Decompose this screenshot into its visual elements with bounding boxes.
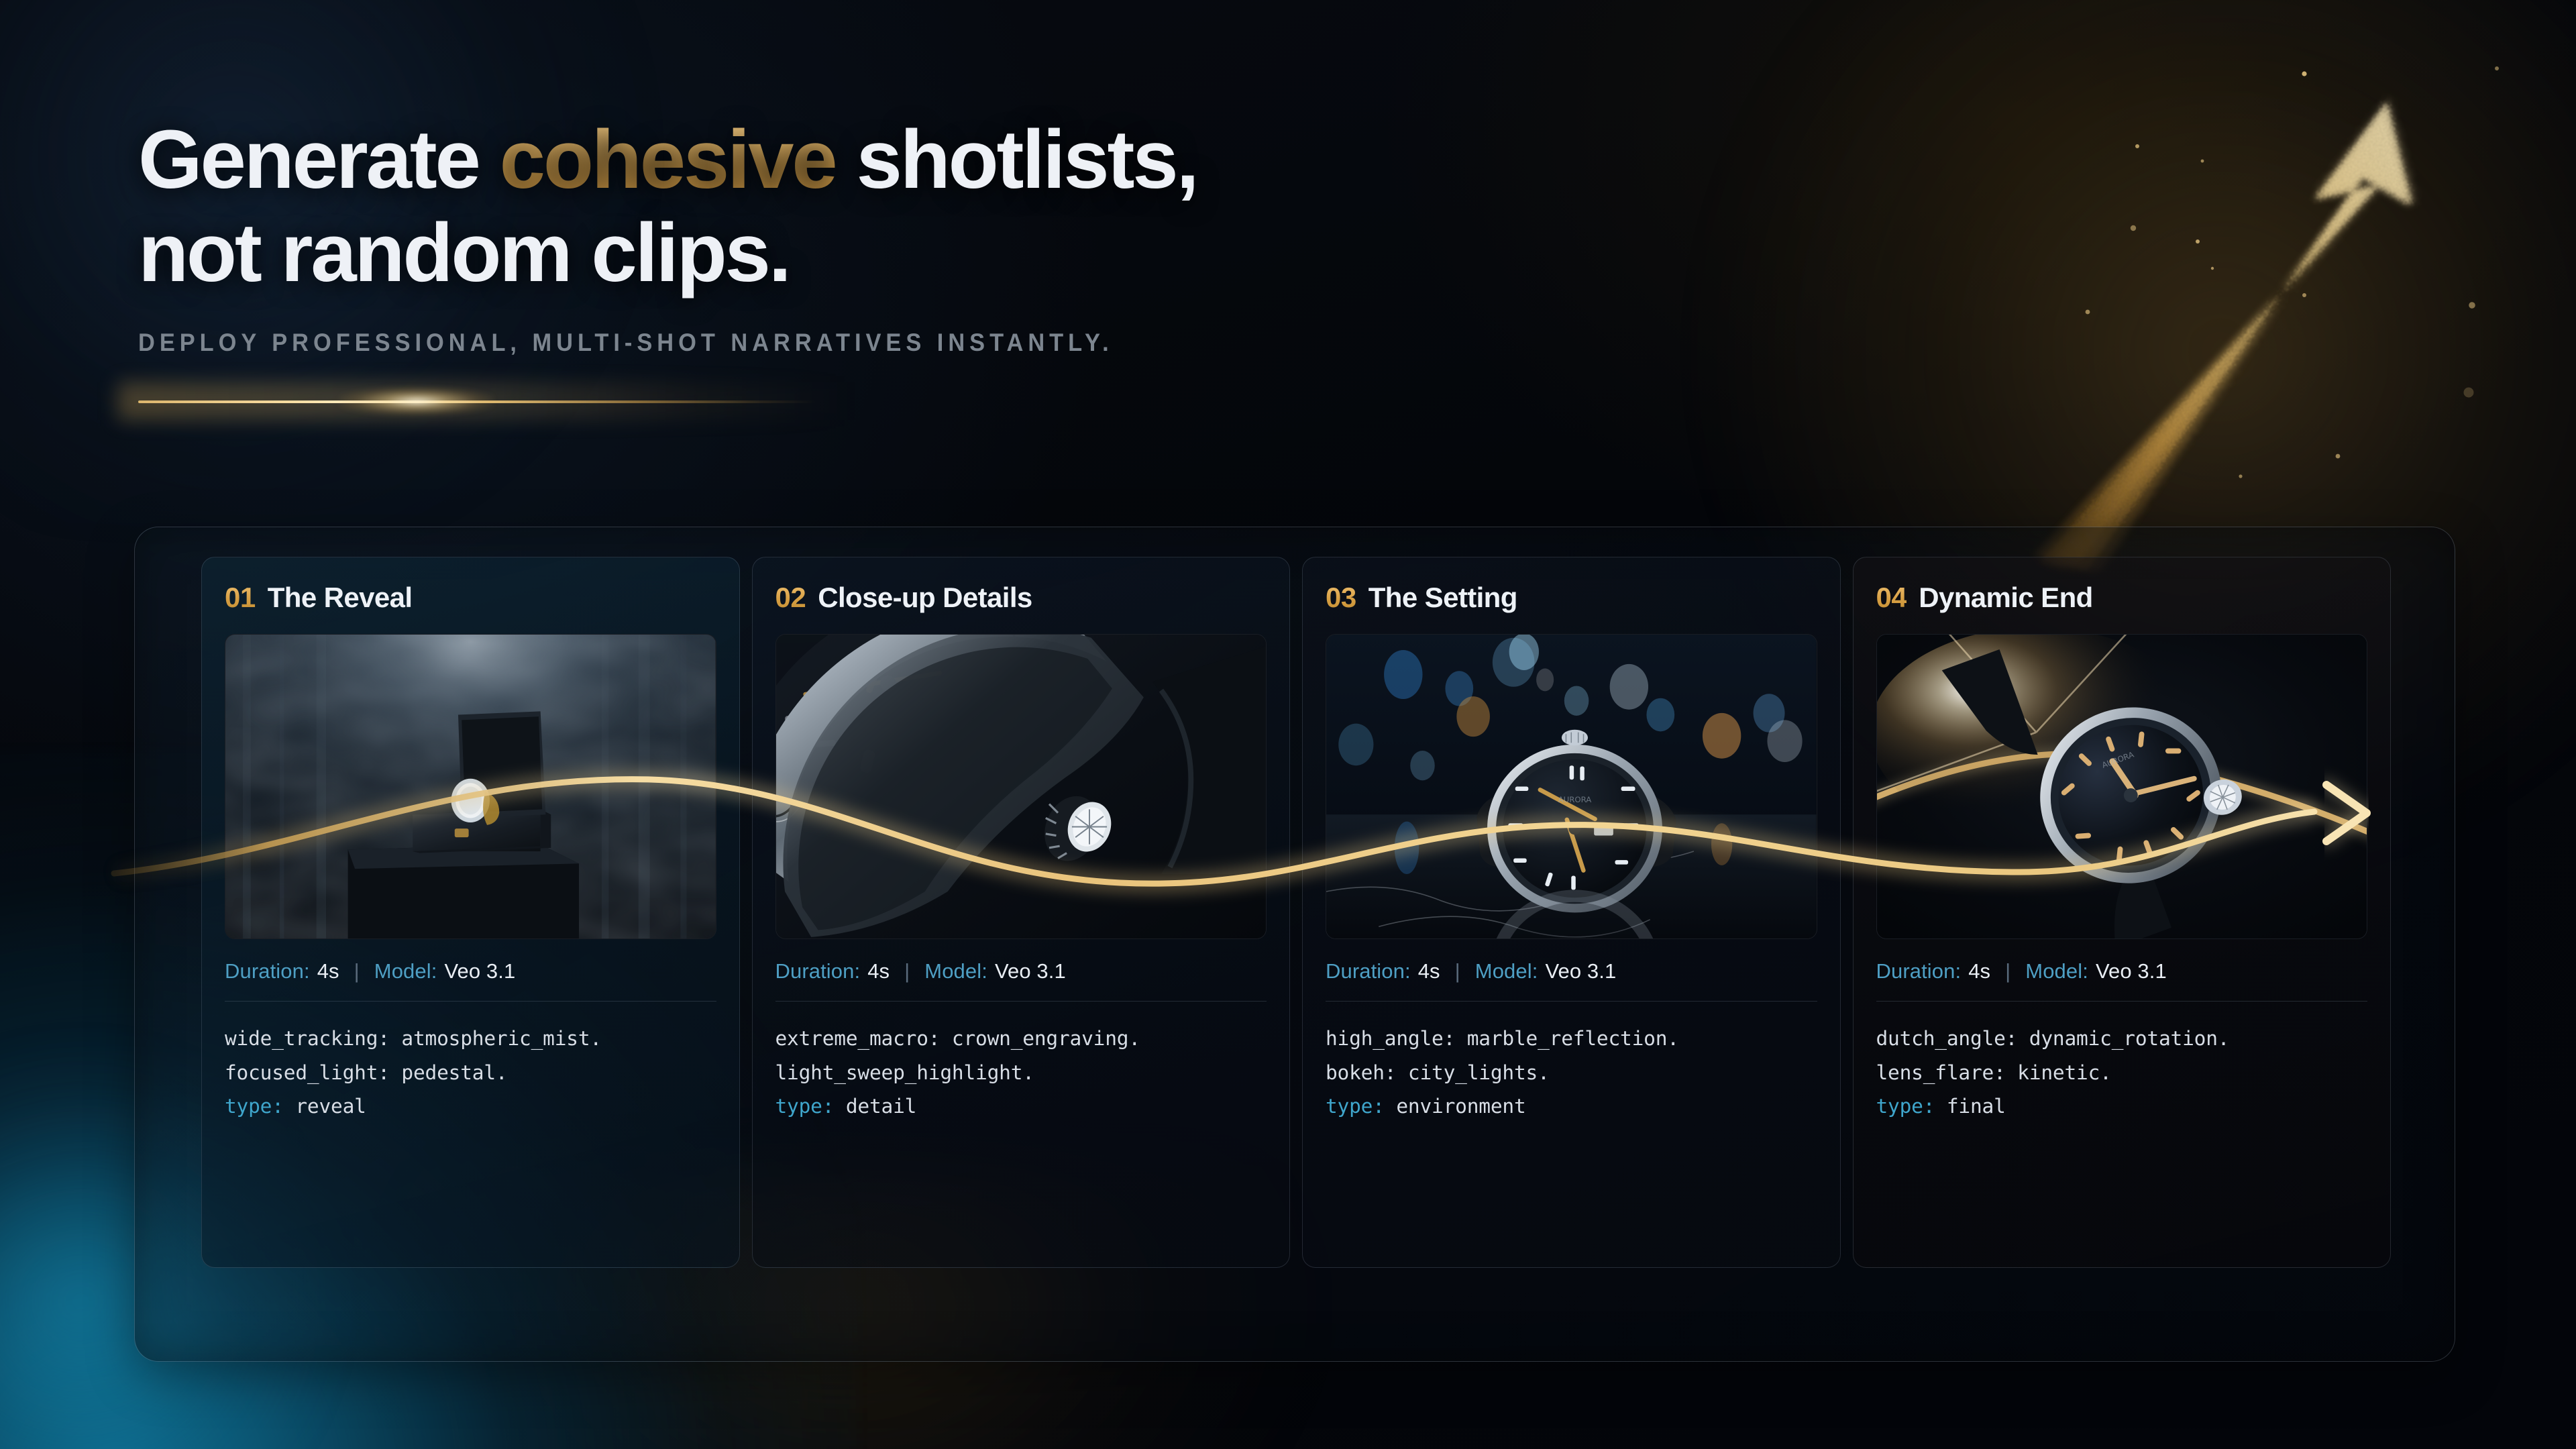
shot-meta-row: Duration: 4s | Model: Veo 3.1: [1876, 959, 2368, 1002]
headline-part-2: shotlists,: [836, 114, 1197, 206]
duration-value: 4s: [1968, 959, 1990, 983]
shot-card-header: 03 The Setting: [1326, 582, 1817, 619]
prompt-key: high_angle:: [1326, 1027, 1455, 1050]
prompt-line: focused_light: pedestal.: [225, 1056, 716, 1090]
shot-meta-row: Duration: 4s | Model: Veo 3.1: [775, 959, 1267, 1002]
model-value: Veo 3.1: [2096, 959, 2167, 983]
model-label: Model:: [1475, 959, 1538, 983]
duration-label: Duration:: [775, 959, 861, 983]
prompt-line: bokeh: city_lights.: [1326, 1056, 1817, 1090]
prompt-line: wide_tracking: atmospheric_mist.: [225, 1022, 716, 1056]
duration-label: Duration:: [225, 959, 310, 983]
prompt-type-line: type: final: [1876, 1089, 2368, 1124]
shot-prompt-code: high_angle: marble_reflection. bokeh: ci…: [1326, 1022, 1817, 1124]
shot-card-row: 01 The Reveal: [201, 557, 2391, 1268]
shot-card-04[interactable]: 04 Dynamic End: [1853, 557, 2392, 1268]
prompt-type-line: type: environment: [1326, 1089, 1817, 1124]
shot-number: 04: [1876, 582, 1907, 614]
duration-value: 4s: [1418, 959, 1440, 983]
shot-card-header: 04 Dynamic End: [1876, 582, 2368, 619]
shot-thumbnail-reveal[interactable]: [225, 634, 716, 939]
shot-meta-row: Duration: 4s | Model: Veo 3.1: [225, 959, 716, 1002]
shot-title: The Setting: [1368, 582, 1517, 614]
duration-label: Duration:: [1326, 959, 1411, 983]
prompt-value: dynamic_rotation.: [2017, 1027, 2229, 1050]
prompt-line: light_sweep_highlight.: [775, 1056, 1267, 1090]
prompt-line: extreme_macro: crown_engraving.: [775, 1022, 1267, 1056]
prompt-key: light_sweep_highlight.: [775, 1061, 1034, 1084]
meta-separator: |: [904, 959, 910, 983]
page-title: Generate cohesive shotlists, not random …: [138, 114, 1748, 301]
shot-number: 03: [1326, 582, 1356, 614]
shot-thumbnail-dynamic[interactable]: AURORA: [1876, 634, 2368, 939]
model-label: Model:: [924, 959, 987, 983]
prompt-value: atmospheric_mist.: [390, 1027, 602, 1050]
shot-card-01[interactable]: 01 The Reveal: [201, 557, 740, 1268]
prompt-value: pedestal.: [390, 1061, 508, 1084]
prompt-type-key: type:: [225, 1095, 284, 1118]
shot-thumbnail-setting[interactable]: AURORA: [1326, 634, 1817, 939]
shot-prompt-code: dutch_angle: dynamic_rotation. lens_flar…: [1876, 1022, 2368, 1124]
shot-card-03[interactable]: 03 The Setting: [1302, 557, 1841, 1268]
prompt-line: high_angle: marble_reflection.: [1326, 1022, 1817, 1056]
meta-separator: |: [2005, 959, 2010, 983]
prompt-type-key: type:: [1326, 1095, 1385, 1118]
model-value: Veo 3.1: [444, 959, 515, 983]
model-value: Veo 3.1: [1545, 959, 1616, 983]
prompt-key: extreme_macro:: [775, 1027, 941, 1050]
duration-value: 4s: [867, 959, 890, 983]
shot-number: 02: [775, 582, 806, 614]
shot-title: Dynamic End: [1919, 582, 2092, 614]
model-value: Veo 3.1: [995, 959, 1066, 983]
prompt-line: dutch_angle: dynamic_rotation.: [1876, 1022, 2368, 1056]
prompt-key: focused_light:: [225, 1061, 390, 1084]
headline-part-1: Generate: [138, 114, 500, 206]
duration-value: 4s: [317, 959, 339, 983]
divider-hotspot: [339, 387, 494, 415]
svg-text:AURORA: AURORA: [1558, 795, 1592, 804]
gold-divider: [138, 393, 816, 411]
page-subtitle: DEPLOY PROFESSIONAL, MULTI-SHOT NARRATIV…: [138, 329, 1635, 357]
shot-meta-row: Duration: 4s | Model: Veo 3.1: [1326, 959, 1817, 1002]
prompt-line: lens_flare: kinetic.: [1876, 1056, 2368, 1090]
shot-card-header: 01 The Reveal: [225, 582, 716, 619]
prompt-type-value: final: [1947, 1095, 2006, 1118]
prompt-type-key: type:: [1876, 1095, 1935, 1118]
prompt-type-key: type:: [775, 1095, 835, 1118]
shot-prompt-code: wide_tracking: atmospheric_mist. focused…: [225, 1022, 716, 1124]
shot-title: The Reveal: [268, 582, 413, 614]
prompt-value: kinetic.: [2006, 1061, 2112, 1084]
prompt-value: crown_engraving.: [940, 1027, 1140, 1050]
shot-card-02[interactable]: 02 Close-up Details: [752, 557, 1291, 1268]
duration-label: Duration:: [1876, 959, 1962, 983]
shot-thumbnail-macro[interactable]: [775, 634, 1267, 939]
prompt-type-value: detail: [846, 1095, 916, 1118]
prompt-value: city_lights.: [1396, 1061, 1549, 1084]
model-label: Model:: [374, 959, 437, 983]
prompt-type-value: environment: [1396, 1095, 1525, 1118]
prompt-key: wide_tracking:: [225, 1027, 390, 1050]
prompt-type-line: type: detail: [775, 1089, 1267, 1124]
prompt-type-line: type: reveal: [225, 1089, 716, 1124]
prompt-key: lens_flare:: [1876, 1061, 2006, 1084]
prompt-key: dutch_angle:: [1876, 1027, 2018, 1050]
shot-title: Close-up Details: [818, 582, 1032, 614]
model-label: Model:: [2025, 959, 2088, 983]
shot-prompt-code: extreme_macro: crown_engraving. light_sw…: [775, 1022, 1267, 1124]
meta-separator: |: [354, 959, 360, 983]
prompt-value: marble_reflection.: [1455, 1027, 1679, 1050]
headline-line-2: not random clips.: [138, 207, 790, 299]
prompt-type-value: reveal: [295, 1095, 366, 1118]
shot-number: 01: [225, 582, 256, 614]
hero-header: Generate cohesive shotlists, not random …: [138, 114, 1748, 411]
gold-particle-arrow-icon: [1999, 27, 2509, 570]
shot-card-header: 02 Close-up Details: [775, 582, 1267, 619]
meta-separator: |: [1455, 959, 1460, 983]
headline-accent-word: cohesive: [500, 114, 836, 206]
prompt-key: bokeh:: [1326, 1061, 1396, 1084]
